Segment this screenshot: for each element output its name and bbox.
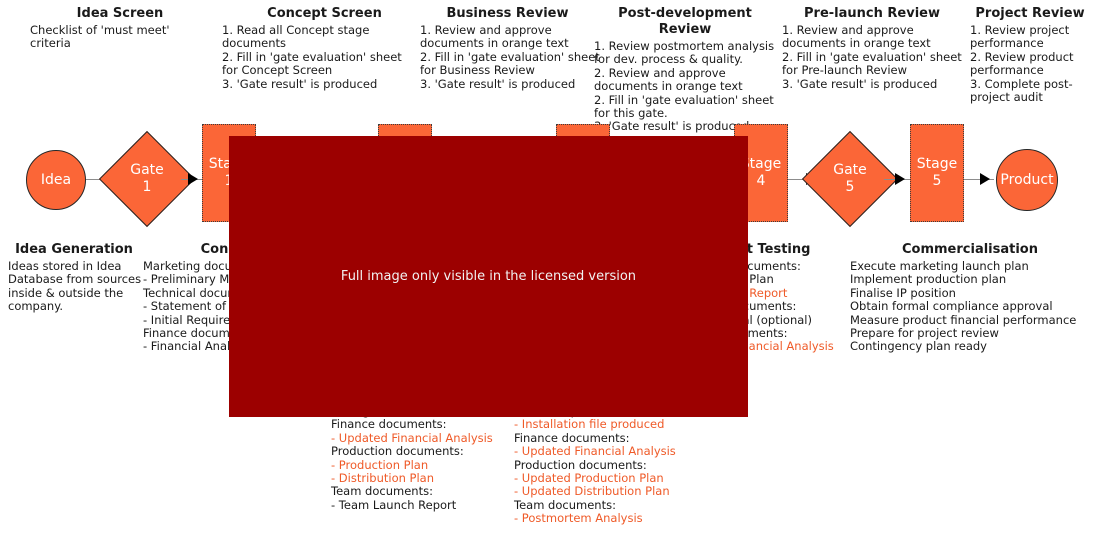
gate-note-line: performance (970, 64, 1090, 77)
lower-docs-line: Team documents: (331, 485, 531, 498)
licence-overlay: Full image only visible in the licensed … (229, 136, 748, 417)
stage-block-line: Implement production plan (850, 273, 1090, 286)
diagram-canvas: Idea Screen Checklist of 'must meet' cri… (0, 0, 1097, 537)
flow-node-label-bottom: 1 (143, 179, 152, 196)
lower-docs-line: Production documents: (331, 445, 531, 458)
lower-docs-line: - Updated Financial Analysis (514, 445, 724, 458)
gate-note-line: 2. Fill in 'gate evaluation' sheet (594, 94, 776, 107)
flow-node-stage5[interactable]: Stage 5 (910, 124, 964, 222)
lower-docs-line: - Distribution Plan (331, 472, 531, 485)
gate-note-title: Business Review (420, 6, 595, 22)
lower-docs-line: Finance documents: (331, 418, 531, 431)
stage-block-line: Prepare for project review (850, 327, 1090, 340)
arrow-gate5-stage5-icon (895, 173, 905, 185)
gate-note-line: performance (970, 37, 1090, 50)
lower-docs-line: - Postmortem Analysis (514, 512, 724, 525)
arrow-gate1-stage1-icon (188, 173, 198, 185)
gate-note-line: 2. Review product (970, 51, 1090, 64)
gate-note-line: 2. Review and approve (594, 67, 776, 80)
lower-docs-line: - Updated Financial Analysis (331, 432, 531, 445)
lower-docs-line: - Team Launch Report (331, 499, 531, 512)
stage-block-line: company. (8, 300, 140, 313)
gate-note-post-development-review: Post-development Review 1. Review postmo… (594, 6, 776, 134)
gate-note-line: for dev. process & quality. (594, 53, 776, 66)
stage-block-line: Execute marketing launch plan (850, 260, 1090, 273)
flow-node-label: Product (1000, 172, 1053, 188)
arrow-stage5-product-icon (980, 173, 990, 185)
gate-note-line: for this gate. (594, 107, 776, 120)
gate-note-line: for Concept Screen (222, 64, 427, 77)
flow-node-label-bottom: 5 (933, 173, 942, 190)
flow-node-idea[interactable]: Idea (26, 150, 86, 210)
lower-docs-line: - Production Plan (331, 459, 531, 472)
stage-block-line: inside & outside the (8, 287, 140, 300)
flow-node-label-top: Gate (130, 162, 164, 179)
flow-node-product[interactable]: Product (996, 149, 1058, 211)
gate-note-line: 3. 'Gate result' is produced (782, 78, 962, 91)
stage-block-line: Database from sources (8, 273, 140, 286)
gate-note-line: 1. Review and approve (782, 24, 962, 37)
gate-note-line: for Pre-launch Review (782, 64, 962, 77)
stage-block-idea-generation: Idea Generation Ideas stored in Idea Dat… (8, 242, 140, 314)
gate-note-line: documents (222, 37, 427, 50)
gate-note-line: documents in orange text (420, 37, 595, 50)
flow-node-label-bottom: 5 (846, 179, 855, 196)
flow-node-label-top: Stage (917, 156, 957, 173)
stage-block-line: Obtain formal compliance approval (850, 300, 1090, 313)
lower-docs-right: - User Help files - Installation file pr… (514, 405, 724, 526)
lower-docs-line: Production documents: (514, 459, 724, 472)
gate-note-concept-screen: Concept Screen 1. Read all Concept stage… (222, 6, 427, 91)
gate-note-pre-launch-review: Pre-launch Review 1. Review and approve … (782, 6, 962, 91)
gate-note-line: project audit (970, 91, 1090, 104)
flow-node-gate5[interactable]: Gate 5 (816, 145, 884, 213)
stage-block-line: Ideas stored in Idea (8, 260, 140, 273)
stage-block-title: Idea Generation (8, 242, 140, 258)
lower-docs-left: Management Plan) Finance documents: - Up… (331, 405, 531, 512)
licence-overlay-message: Full image only visible in the licensed … (341, 269, 636, 284)
flow-node-label-group: Gate 1 (113, 145, 181, 213)
lower-docs-line: Team documents: (514, 499, 724, 512)
gate-note-title: Concept Screen (222, 6, 427, 22)
gate-note-line: 2. Fill in 'gate evaluation' sheet (420, 51, 595, 64)
gate-note-line: 3. 'Gate result' is produced (222, 78, 427, 91)
gate-note-title: Post-development Review (594, 6, 776, 38)
gate-note-line: documents in orange text (594, 80, 776, 93)
gate-note-title: Pre-launch Review (782, 6, 962, 22)
gate-note-line: 1. Review and approve (420, 24, 595, 37)
flow-node-label-top: Gate (833, 162, 867, 179)
gate-note-line: documents in orange text (782, 37, 962, 50)
gate-note-business-review: Business Review 1. Review and approve do… (420, 6, 595, 91)
gate-note-line: 2. Fill in 'gate evaluation' sheet (222, 51, 427, 64)
gate-note-line: criteria (30, 37, 210, 50)
flow-node-label-bottom: 4 (757, 173, 766, 190)
stage-block-line: Measure product financial performance (850, 314, 1090, 327)
stage-block-line: Finalise IP position (850, 287, 1090, 300)
gate-note-idea-screen: Idea Screen Checklist of 'must meet' cri… (30, 6, 210, 51)
gate-note-line: 3. 'Gate result' is produced (420, 78, 595, 91)
stage-block-title: Commercialisation (850, 242, 1090, 258)
gate-note-line: 3. Complete post- (970, 78, 1090, 91)
lower-docs-line: - Updated Distribution Plan (514, 485, 724, 498)
stage-block-line: Contingency plan ready (850, 340, 1090, 353)
gate-note-project-review: Project Review 1. Review project perform… (970, 6, 1090, 104)
lower-docs-line: - Updated Production Plan (514, 472, 724, 485)
gate-note-title: Idea Screen (30, 6, 210, 22)
gate-note-line: 1. Review postmortem analysis (594, 40, 776, 53)
flow-node-label: Idea (41, 172, 71, 188)
gate-note-line: Checklist of 'must meet' (30, 24, 210, 37)
gate-note-line: 1. Read all Concept stage (222, 24, 427, 37)
lower-docs-line: - Installation file produced (514, 418, 724, 431)
flow-node-gate1[interactable]: Gate 1 (113, 145, 181, 213)
lower-docs-line: Finance documents: (514, 432, 724, 445)
gate-note-title: Project Review (970, 6, 1090, 22)
gate-note-line: for Business Review (420, 64, 595, 77)
flow-node-label-group: Gate 5 (816, 145, 884, 213)
stage-block-commercialisation: Commercialisation Execute marketing laun… (850, 242, 1090, 354)
gate-note-line: 1. Review project (970, 24, 1090, 37)
gate-note-line: 2. Fill in 'gate evaluation' sheet (782, 51, 962, 64)
